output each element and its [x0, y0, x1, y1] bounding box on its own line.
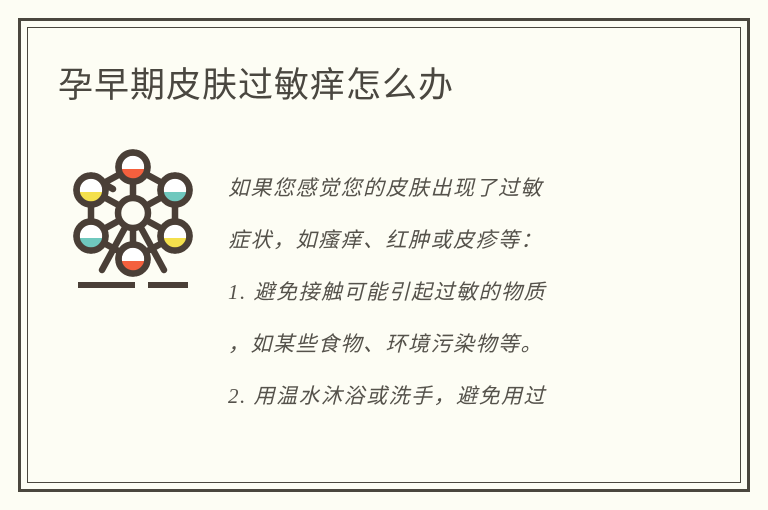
article-body: 如果您感觉您的皮肤出现了过敏 症状，如瘙痒、红肿或皮疹等： 1. 避免接触可能引…: [228, 162, 668, 422]
body-line: 如果您感觉您的皮肤出现了过敏: [228, 162, 668, 214]
article-card: 孕早期皮肤过敏痒怎么办: [0, 0, 768, 510]
body-line: 1. 避免接触可能引起过敏的物质: [228, 266, 668, 318]
body-line: ，如某些食物、环境污染物等。: [228, 318, 668, 370]
orange-cabin-bottom: [119, 245, 148, 274]
teal-cabin-upper-right: [161, 176, 190, 205]
body-line: 症状，如瘙痒、红肿或皮疹等：: [228, 214, 668, 266]
card-content: 孕早期皮肤过敏痒怎么办: [0, 0, 768, 510]
body-line: 2. 用温水沐浴或洗手，避免用过: [228, 370, 668, 422]
teal-cabin-lower-left: [77, 222, 106, 251]
page-title: 孕早期皮肤过敏痒怎么办: [58, 64, 454, 108]
ferris-wheel-illustration: [72, 148, 194, 293]
orange-cabin-top: [119, 153, 148, 182]
yellow-cabin-lower-right: [161, 222, 190, 251]
yellow-cabin-upper-left: [77, 176, 106, 205]
